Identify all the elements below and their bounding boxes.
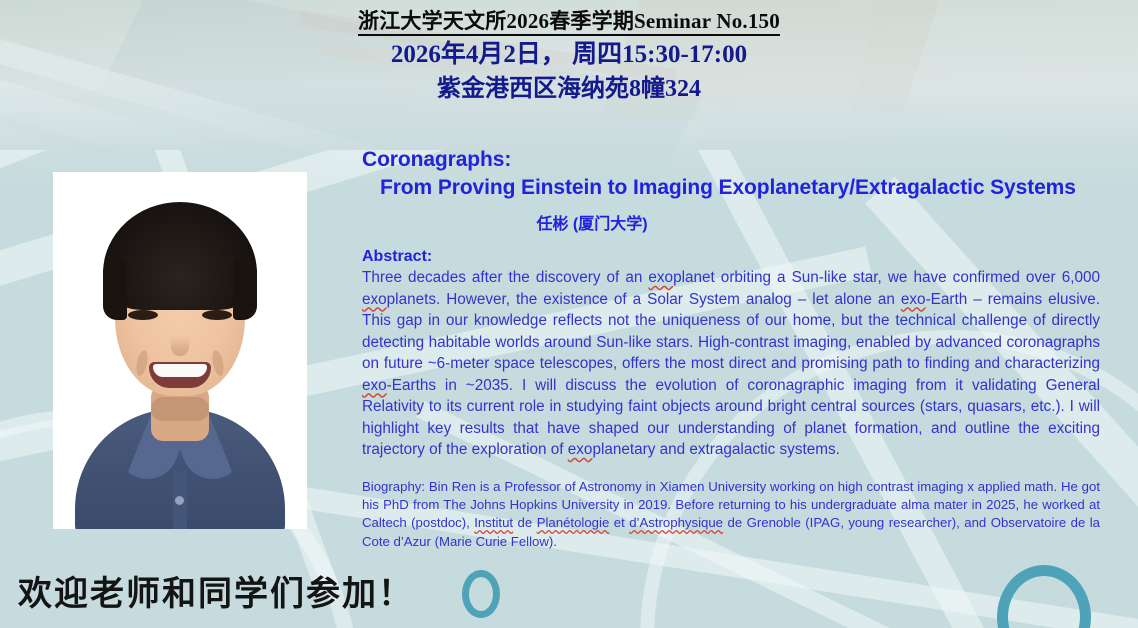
seminar-location: 紫金港西区海纳苑8幢324 bbox=[0, 73, 1138, 106]
seminar-series-title: 浙江大学天文所2026春季学期Seminar No.150 bbox=[0, 8, 1138, 34]
teal-ring-small-icon bbox=[462, 570, 500, 618]
poster-content: Coronagraphs: From Proving Einstein to I… bbox=[362, 146, 1112, 551]
biography-text: Biography: Bin Ren is a Professor of Ast… bbox=[362, 478, 1100, 552]
seminar-datetime: 2026年4月2日， 周四15:30-17:00 bbox=[0, 38, 1138, 71]
talk-title: Coronagraphs: From Proving Einstein to I… bbox=[362, 146, 1112, 202]
talk-title-line2: From Proving Einstein to Imaging Exoplan… bbox=[362, 174, 1112, 202]
poster-header: 浙江大学天文所2026春季学期Seminar No.150 2026年4月2日，… bbox=[0, 8, 1138, 106]
speaker-photo bbox=[53, 172, 307, 529]
seminar-poster: 浙江大学天文所2026春季学期Seminar No.150 2026年4月2日，… bbox=[0, 0, 1138, 628]
seminar-series-title-text: 浙江大学天文所2026春季学期Seminar No.150 bbox=[358, 9, 780, 36]
talk-title-line1: Coronagraphs: bbox=[362, 148, 511, 171]
abstract-label: Abstract: bbox=[362, 248, 1112, 266]
welcome-message: 欢迎老师和同学们参加！ bbox=[18, 566, 414, 615]
speaker-headshot-illustration bbox=[53, 172, 307, 529]
abstract-text: Three decades after the discovery of an … bbox=[362, 267, 1100, 461]
speaker-name-affiliation: 任彬 (厦门大学) bbox=[362, 210, 1112, 234]
